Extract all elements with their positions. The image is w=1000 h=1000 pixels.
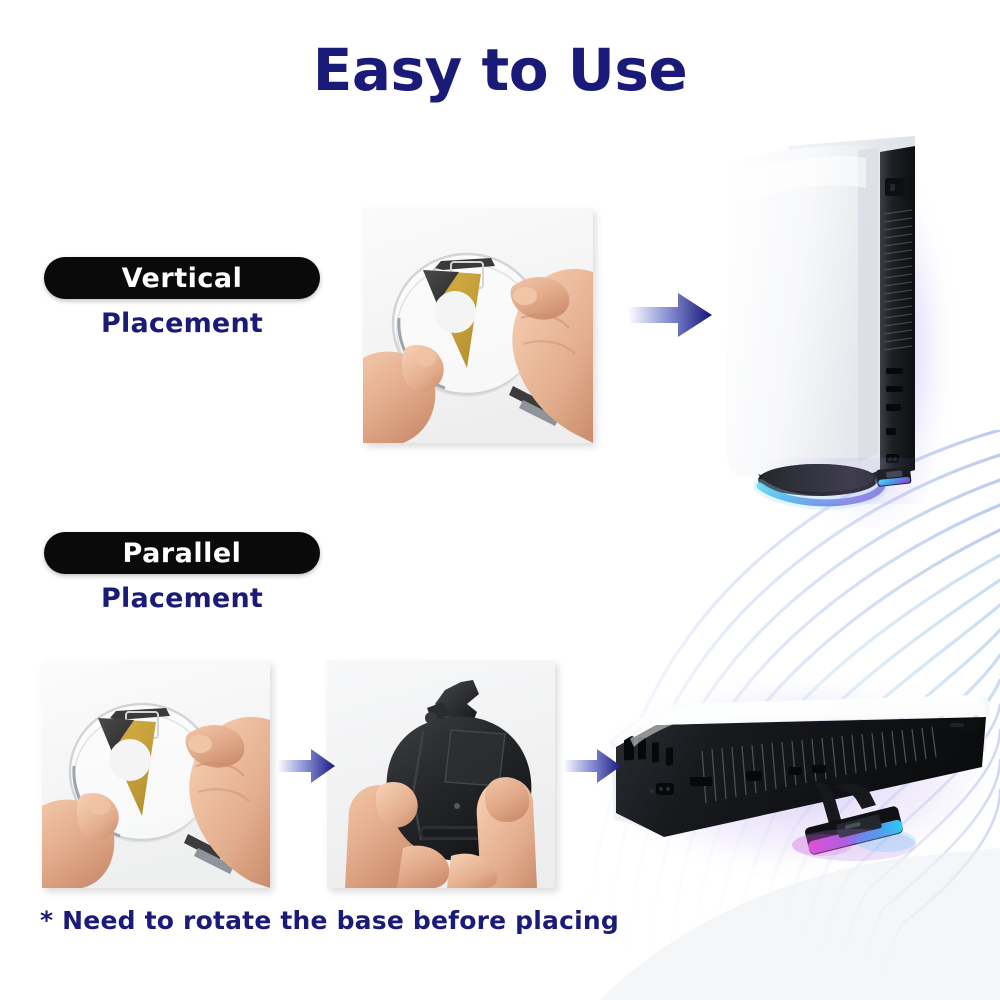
badge-parallel: Parallel [44, 532, 320, 574]
ps5-console-vertical-on-stand [700, 118, 1000, 528]
badge-vertical: Vertical [44, 257, 320, 299]
section-label-parallel: Parallel Placement [44, 532, 320, 614]
arrow-right-icon-vertical [628, 291, 712, 339]
hands-clear-base-illustration-2 [42, 660, 270, 888]
page-title: Easy to Use [0, 40, 1000, 101]
sublabel-vertical: Placement [44, 308, 320, 339]
photo-hands-holding-clear-base-vertical [363, 208, 593, 443]
photo-hands-holding-black-base-underside [327, 660, 555, 888]
section-label-vertical: Vertical Placement [44, 257, 320, 339]
arrow-right-icon-parallel-2 [563, 748, 621, 784]
sublabel-parallel: Placement [44, 583, 320, 614]
hands-clear-base-illustration [363, 208, 593, 443]
ps5-console-horizontal-on-stand [590, 655, 1000, 890]
badge-parallel-label: Parallel [123, 538, 242, 569]
badge-vertical-label: Vertical [122, 263, 243, 294]
infographic-page: Easy to Use Vertical Placement [0, 0, 1000, 1000]
photo-hands-holding-clear-base-parallel [42, 660, 270, 888]
footnote-text: * Need to rotate the base before placing [40, 906, 619, 935]
arrow-right-icon-parallel-1 [277, 748, 335, 784]
black-base-underside-illustration [327, 660, 555, 888]
